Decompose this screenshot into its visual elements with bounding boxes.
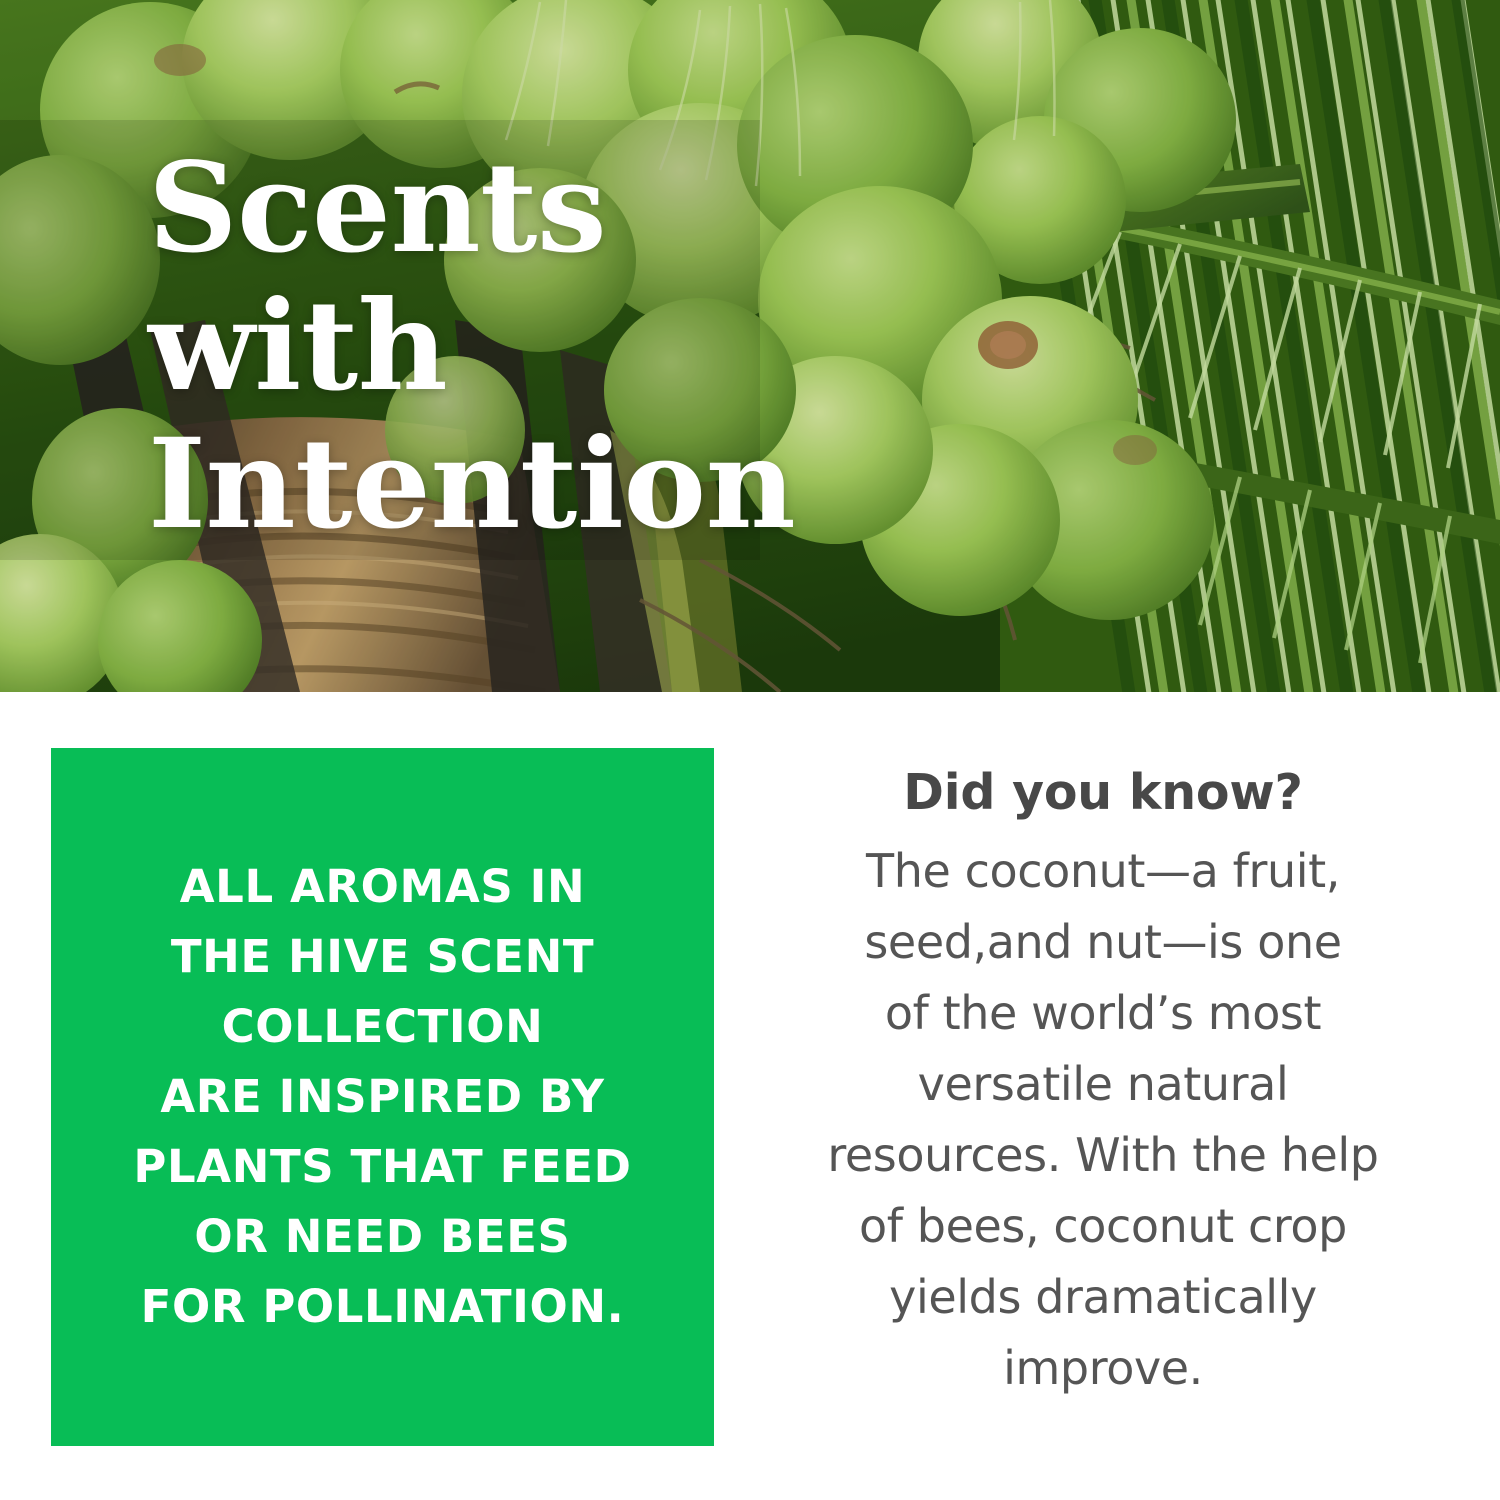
did-you-know-block: Did you know? The coconut—a fruit, seed,…: [746, 762, 1460, 1404]
page-title: Scents with Intention: [148, 140, 908, 554]
green-callout-text: ALL AROMAS IN THE HIVE SCENT COLLECTION …: [133, 852, 631, 1342]
hero-photo: Scents with Intention: [0, 0, 1500, 692]
lower-section: ALL AROMAS IN THE HIVE SCENT COLLECTION …: [0, 692, 1500, 1500]
infographic-page: Scents with Intention ALL AROMAS IN THE …: [0, 0, 1500, 1500]
green-callout-panel: ALL AROMAS IN THE HIVE SCENT COLLECTION …: [51, 748, 714, 1446]
did-you-know-body: The coconut—a fruit, seed,and nut—is one…: [746, 836, 1460, 1404]
did-you-know-heading: Did you know?: [746, 762, 1460, 824]
